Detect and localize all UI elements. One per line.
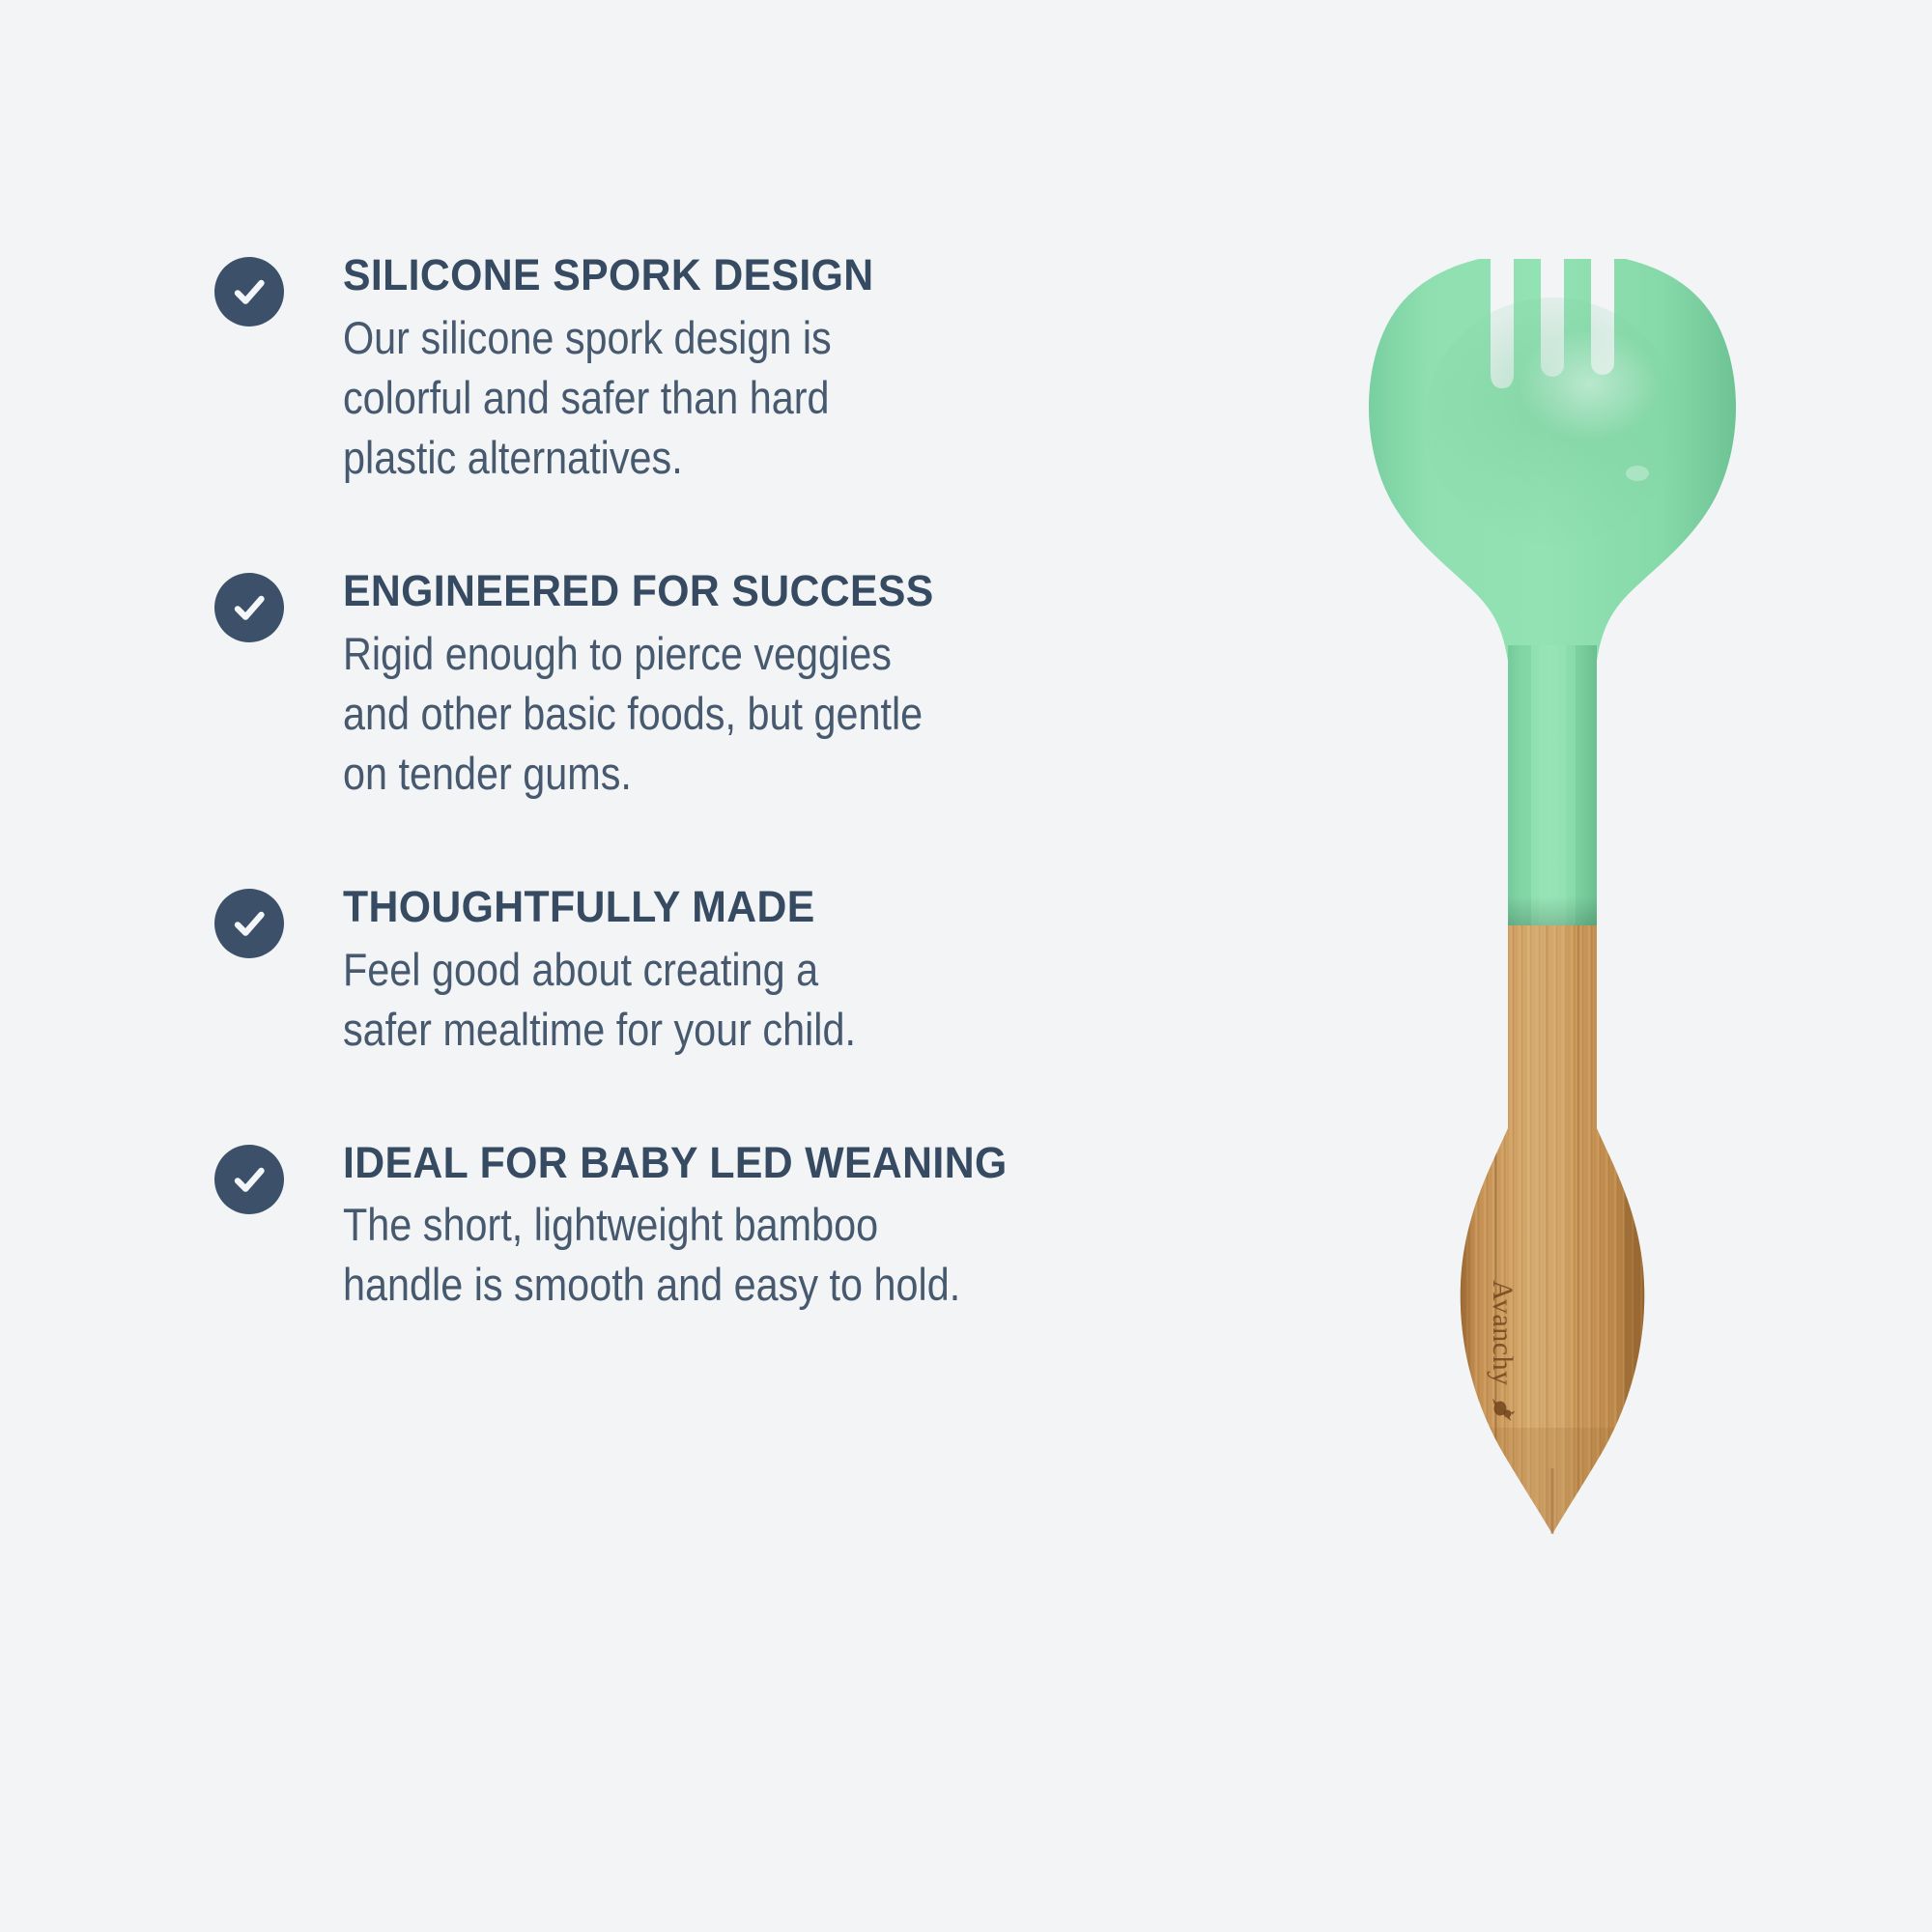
check-circle-icon bbox=[214, 889, 284, 958]
feature-item: ENGINEERED FOR SUCCESS Rigid enough to p… bbox=[214, 569, 1248, 804]
feature-item: THOUGHTFULLY MADE Feel good about creati… bbox=[214, 885, 1248, 1060]
feature-title: THOUGHTFULLY MADE bbox=[343, 885, 1203, 930]
feature-body-line: The short, lightweight bamboo bbox=[343, 1195, 1243, 1255]
feature-item: SILICONE SPORK DESIGN Our silicone spork… bbox=[214, 253, 1248, 488]
feature-body: Rigid enough to pierce veggies and other… bbox=[343, 624, 1243, 804]
feature-body-line: Feel good about creating a bbox=[343, 940, 1243, 1000]
feature-body-line: safer mealtime for your child. bbox=[343, 1000, 1243, 1060]
feature-body-line: Rigid enough to pierce veggies bbox=[343, 624, 1243, 684]
check-circle-icon bbox=[214, 257, 284, 327]
check-circle-icon bbox=[214, 573, 284, 642]
feature-body-line: plastic alternatives. bbox=[343, 428, 1243, 488]
feature-body: Feel good about creating a safer mealtim… bbox=[343, 940, 1243, 1060]
feature-item: IDEAL FOR BABY LED WEANING The short, li… bbox=[214, 1141, 1248, 1316]
product-infographic: SILICONE SPORK DESIGN Our silicone spork… bbox=[0, 0, 1932, 1932]
feature-body-line: handle is smooth and easy to hold. bbox=[343, 1255, 1243, 1315]
feature-list: SILICONE SPORK DESIGN Our silicone spork… bbox=[214, 253, 1248, 1316]
check-circle-icon bbox=[214, 1145, 284, 1214]
feature-body-line: and other basic foods, but gentle bbox=[343, 684, 1243, 744]
feature-title: IDEAL FOR BABY LED WEANING bbox=[343, 1141, 1203, 1186]
feature-title: SILICONE SPORK DESIGN bbox=[343, 253, 1203, 298]
product-image-spork bbox=[1348, 259, 1773, 1611]
feature-body: Our silicone spork design is colorful an… bbox=[343, 308, 1243, 488]
feature-body-line: Our silicone spork design is bbox=[343, 308, 1243, 368]
feature-body-line: on tender gums. bbox=[343, 744, 1243, 804]
feature-title: ENGINEERED FOR SUCCESS bbox=[343, 569, 1203, 614]
feature-body: The short, lightweight bamboo handle is … bbox=[343, 1195, 1243, 1315]
feature-body-line: colorful and safer than hard bbox=[343, 368, 1243, 428]
